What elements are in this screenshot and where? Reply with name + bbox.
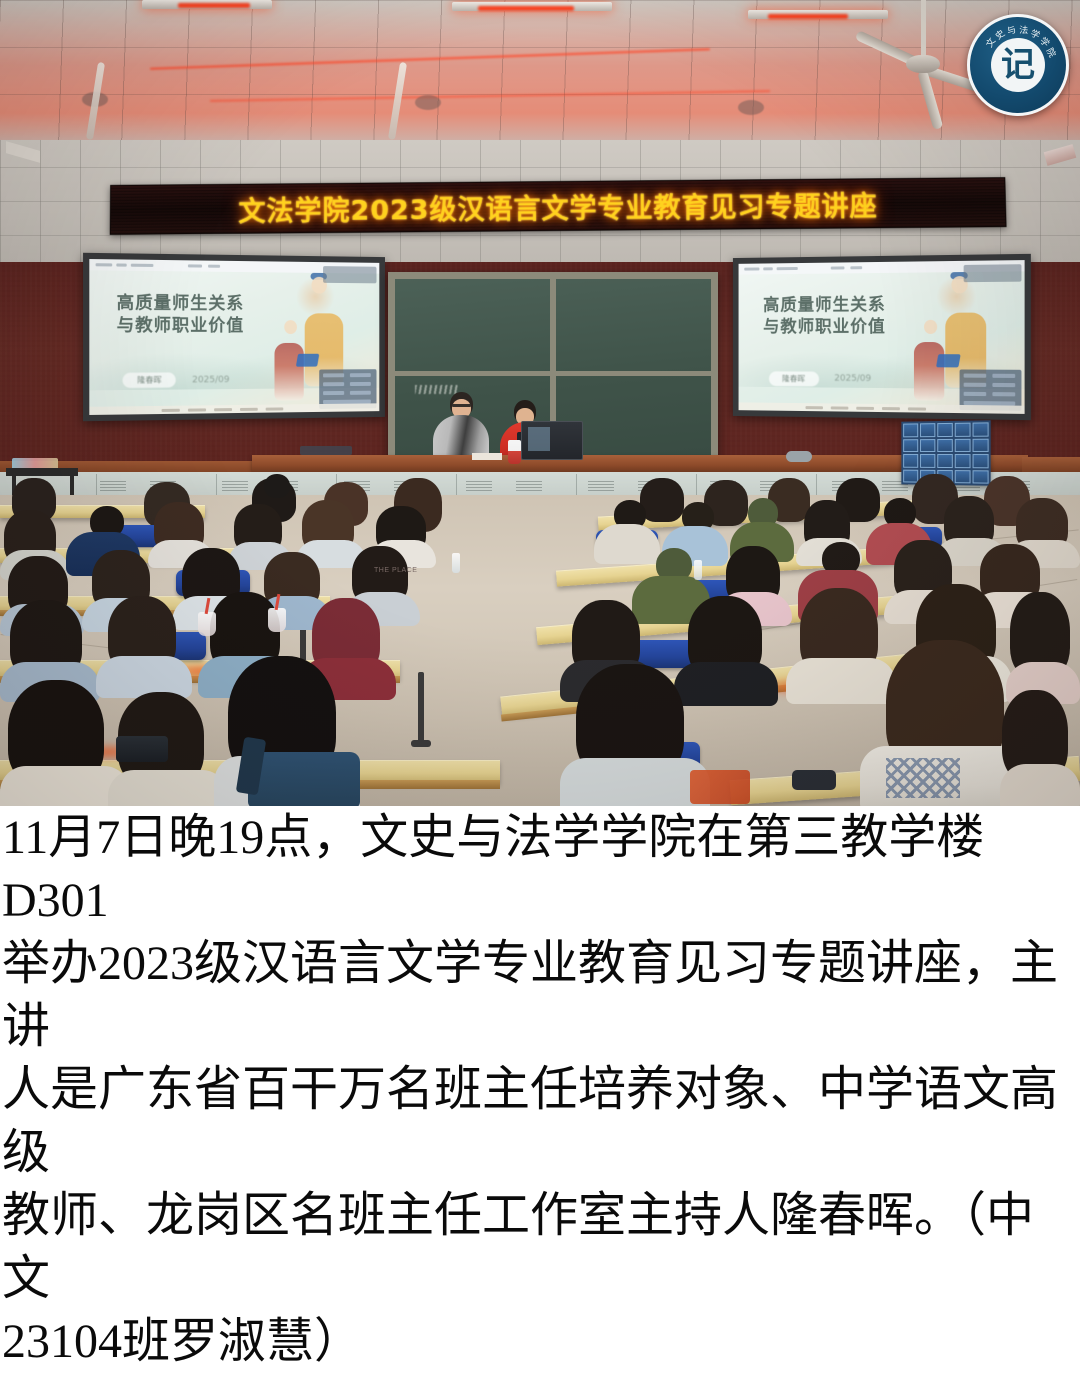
- slide-title-line2: 与教师职业价值: [117, 316, 245, 338]
- ceiling-speaker: [415, 95, 441, 110]
- shoulder-bag: [248, 752, 360, 806]
- caption-line-4: 教师、龙岗区名班主任工作室主持人隆春晖。（中文: [0, 1184, 1080, 1310]
- slide-meta: 隆春晖 2025/09: [123, 372, 230, 388]
- slide-bottom-bar: [89, 403, 379, 415]
- caption-block: 11月7日晚19点，文史与法学学院在第三教学楼D301 举办2023级汉语言文学…: [0, 806, 1080, 1135]
- presenter-gray-jacket: [433, 392, 489, 462]
- slide-date: 2025/09: [834, 374, 871, 384]
- ceiling-red-glow: [478, 6, 574, 11]
- caption-line-1: 11月7日晚19点，文史与法学学院在第三教学楼D301: [0, 806, 1080, 932]
- podium-top-right: [1022, 457, 1080, 473]
- audience-member: [256, 474, 300, 500]
- audience-member: [96, 596, 192, 692]
- side-table-top: [6, 468, 78, 476]
- ceiling-red-glow: [768, 14, 848, 19]
- ceiling-fan-hub: [906, 55, 940, 73]
- slide-meta: 隆春晖 2025/09: [769, 371, 871, 387]
- slide-title-line2: 与教师职业价值: [763, 317, 886, 339]
- caption-line-2: 举办2023级汉语言文学专业教育见习专题讲座，主讲: [0, 932, 1080, 1058]
- slide-title-line1: 高质量师生关系: [763, 295, 886, 317]
- slide-topright-panel: [323, 266, 376, 283]
- logo-center: 记: [991, 38, 1045, 92]
- slide-figure-student-head: [924, 320, 937, 334]
- projection-screen-left: 高质量师生关系 与教师职业价值 隆春晖 2025/09: [83, 253, 385, 421]
- projection-screen-right: 高质量师生关系 与教师职业价值 隆春晖 2025/09: [733, 254, 1031, 420]
- institution-logo: 文 史 与 法 学 学 院 记: [967, 14, 1069, 116]
- slide-book-icon: [296, 354, 320, 367]
- ceiling-fan-rod: [921, 0, 926, 58]
- water-bottle: [452, 553, 460, 573]
- slide-figure-student: [275, 343, 304, 401]
- slide-figure-student: [914, 342, 944, 401]
- slide-title: 高质量师生关系 与教师职业价值: [117, 294, 245, 338]
- audience-member: [1000, 690, 1080, 806]
- slide-right: 高质量师生关系 与教师职业价值 隆春晖 2025/09: [739, 260, 1025, 414]
- led-banner: 文法学院2023级汉语言文学专业教育见习专题讲座: [110, 177, 1007, 235]
- slide-title-line1: 高质量师生关系: [117, 294, 245, 317]
- podium-mouse: [786, 451, 812, 462]
- caption-line-5: 23104班罗淑慧）: [0, 1310, 1080, 1373]
- slide-presenter: 隆春晖: [769, 371, 819, 386]
- water-bottle: [694, 560, 702, 580]
- laptop-screen: [528, 427, 550, 451]
- slide-presenter: 隆春晖: [123, 373, 176, 389]
- logo-glyph: 记: [1001, 48, 1035, 82]
- podium-equipment-tray: [300, 446, 352, 455]
- slide-figure-student-head: [284, 320, 297, 334]
- chair-foot: [411, 740, 431, 747]
- presenter-glasses: [452, 404, 471, 407]
- phone-device: [792, 770, 836, 790]
- podium-paper: [472, 453, 502, 460]
- slide-left: 高质量师生关系 与教师职业价值 隆春晖 2025/09: [89, 259, 379, 415]
- podium-laptop: [521, 421, 583, 460]
- podium-water-bottle: [508, 440, 521, 464]
- ceiling-speaker: [738, 100, 764, 115]
- slide-date: 2025/09: [192, 375, 229, 385]
- slide-topright-panel: [964, 264, 1022, 282]
- slide-book-icon: [936, 354, 961, 367]
- phone-device: [116, 736, 168, 762]
- chair-leg: [418, 672, 424, 744]
- drink-cup: [198, 612, 216, 636]
- page-root: 文法学院2023级汉语言文学专业教育见习专题讲座 高质量师生关系 与教师职业价值: [0, 0, 1080, 1135]
- audience-member: [560, 664, 710, 806]
- desk-item: [690, 770, 750, 804]
- drink-cup: [268, 608, 286, 632]
- caption-line-3: 人是广东省百干万名班主任培养对象、中学语文高级: [0, 1058, 1080, 1184]
- ceiling-red-glow: [178, 3, 250, 8]
- blackboard-divider-horizontal: [395, 371, 711, 376]
- ceiling: [0, 0, 1080, 145]
- sweater-pattern: [886, 758, 960, 798]
- led-banner-text: 文法学院2023级汉语言文学专业教育见习专题讲座: [238, 184, 878, 229]
- slide-title: 高质量师生关系 与教师职业价值: [763, 295, 886, 339]
- hoodie-text: THE PLACE: [374, 567, 417, 574]
- event-photo: 文法学院2023级汉语言文学专业教育见习专题讲座 高质量师生关系 与教师职业价值: [0, 0, 1080, 806]
